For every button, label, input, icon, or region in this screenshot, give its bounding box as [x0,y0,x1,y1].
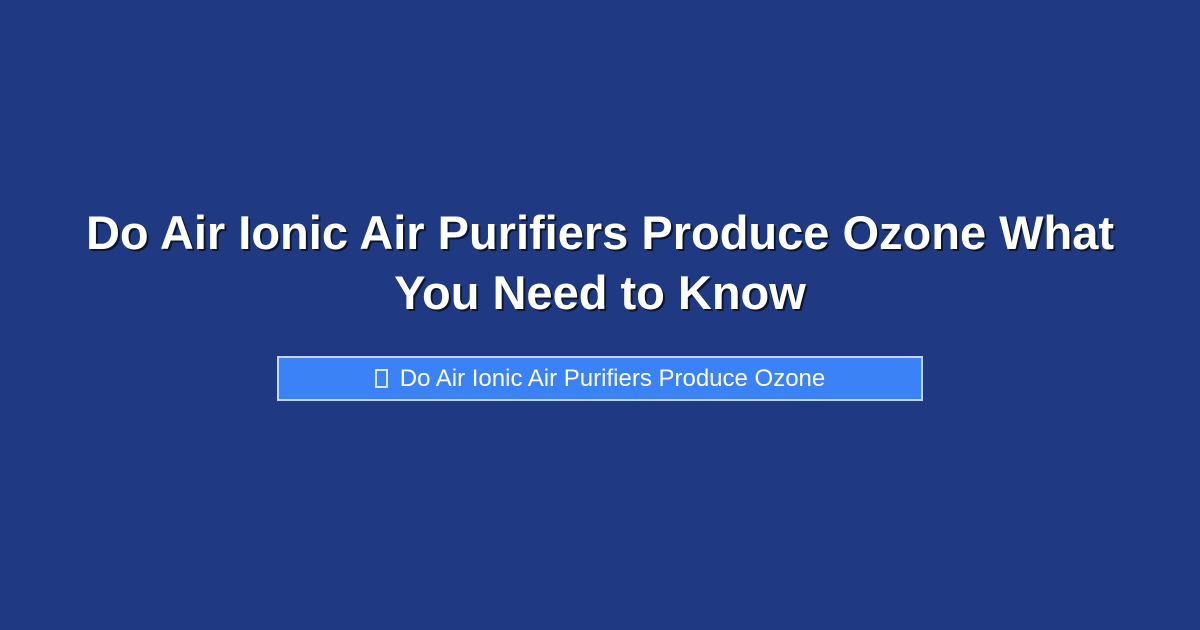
og-image-card: Do Air Ionic Air Purifiers Produce Ozone… [0,0,1200,630]
page-title: Do Air Ionic Air Purifiers Produce Ozone… [0,203,1200,323]
badge-row: Do Air Ionic Air Purifiers Produce Ozone [0,356,1200,401]
article-topic-button[interactable]: Do Air Ionic Air Purifiers Produce Ozone [277,356,923,401]
missing-glyph-box-icon [375,369,388,388]
article-topic-button-label: Do Air Ionic Air Purifiers Produce Ozone [400,367,826,391]
